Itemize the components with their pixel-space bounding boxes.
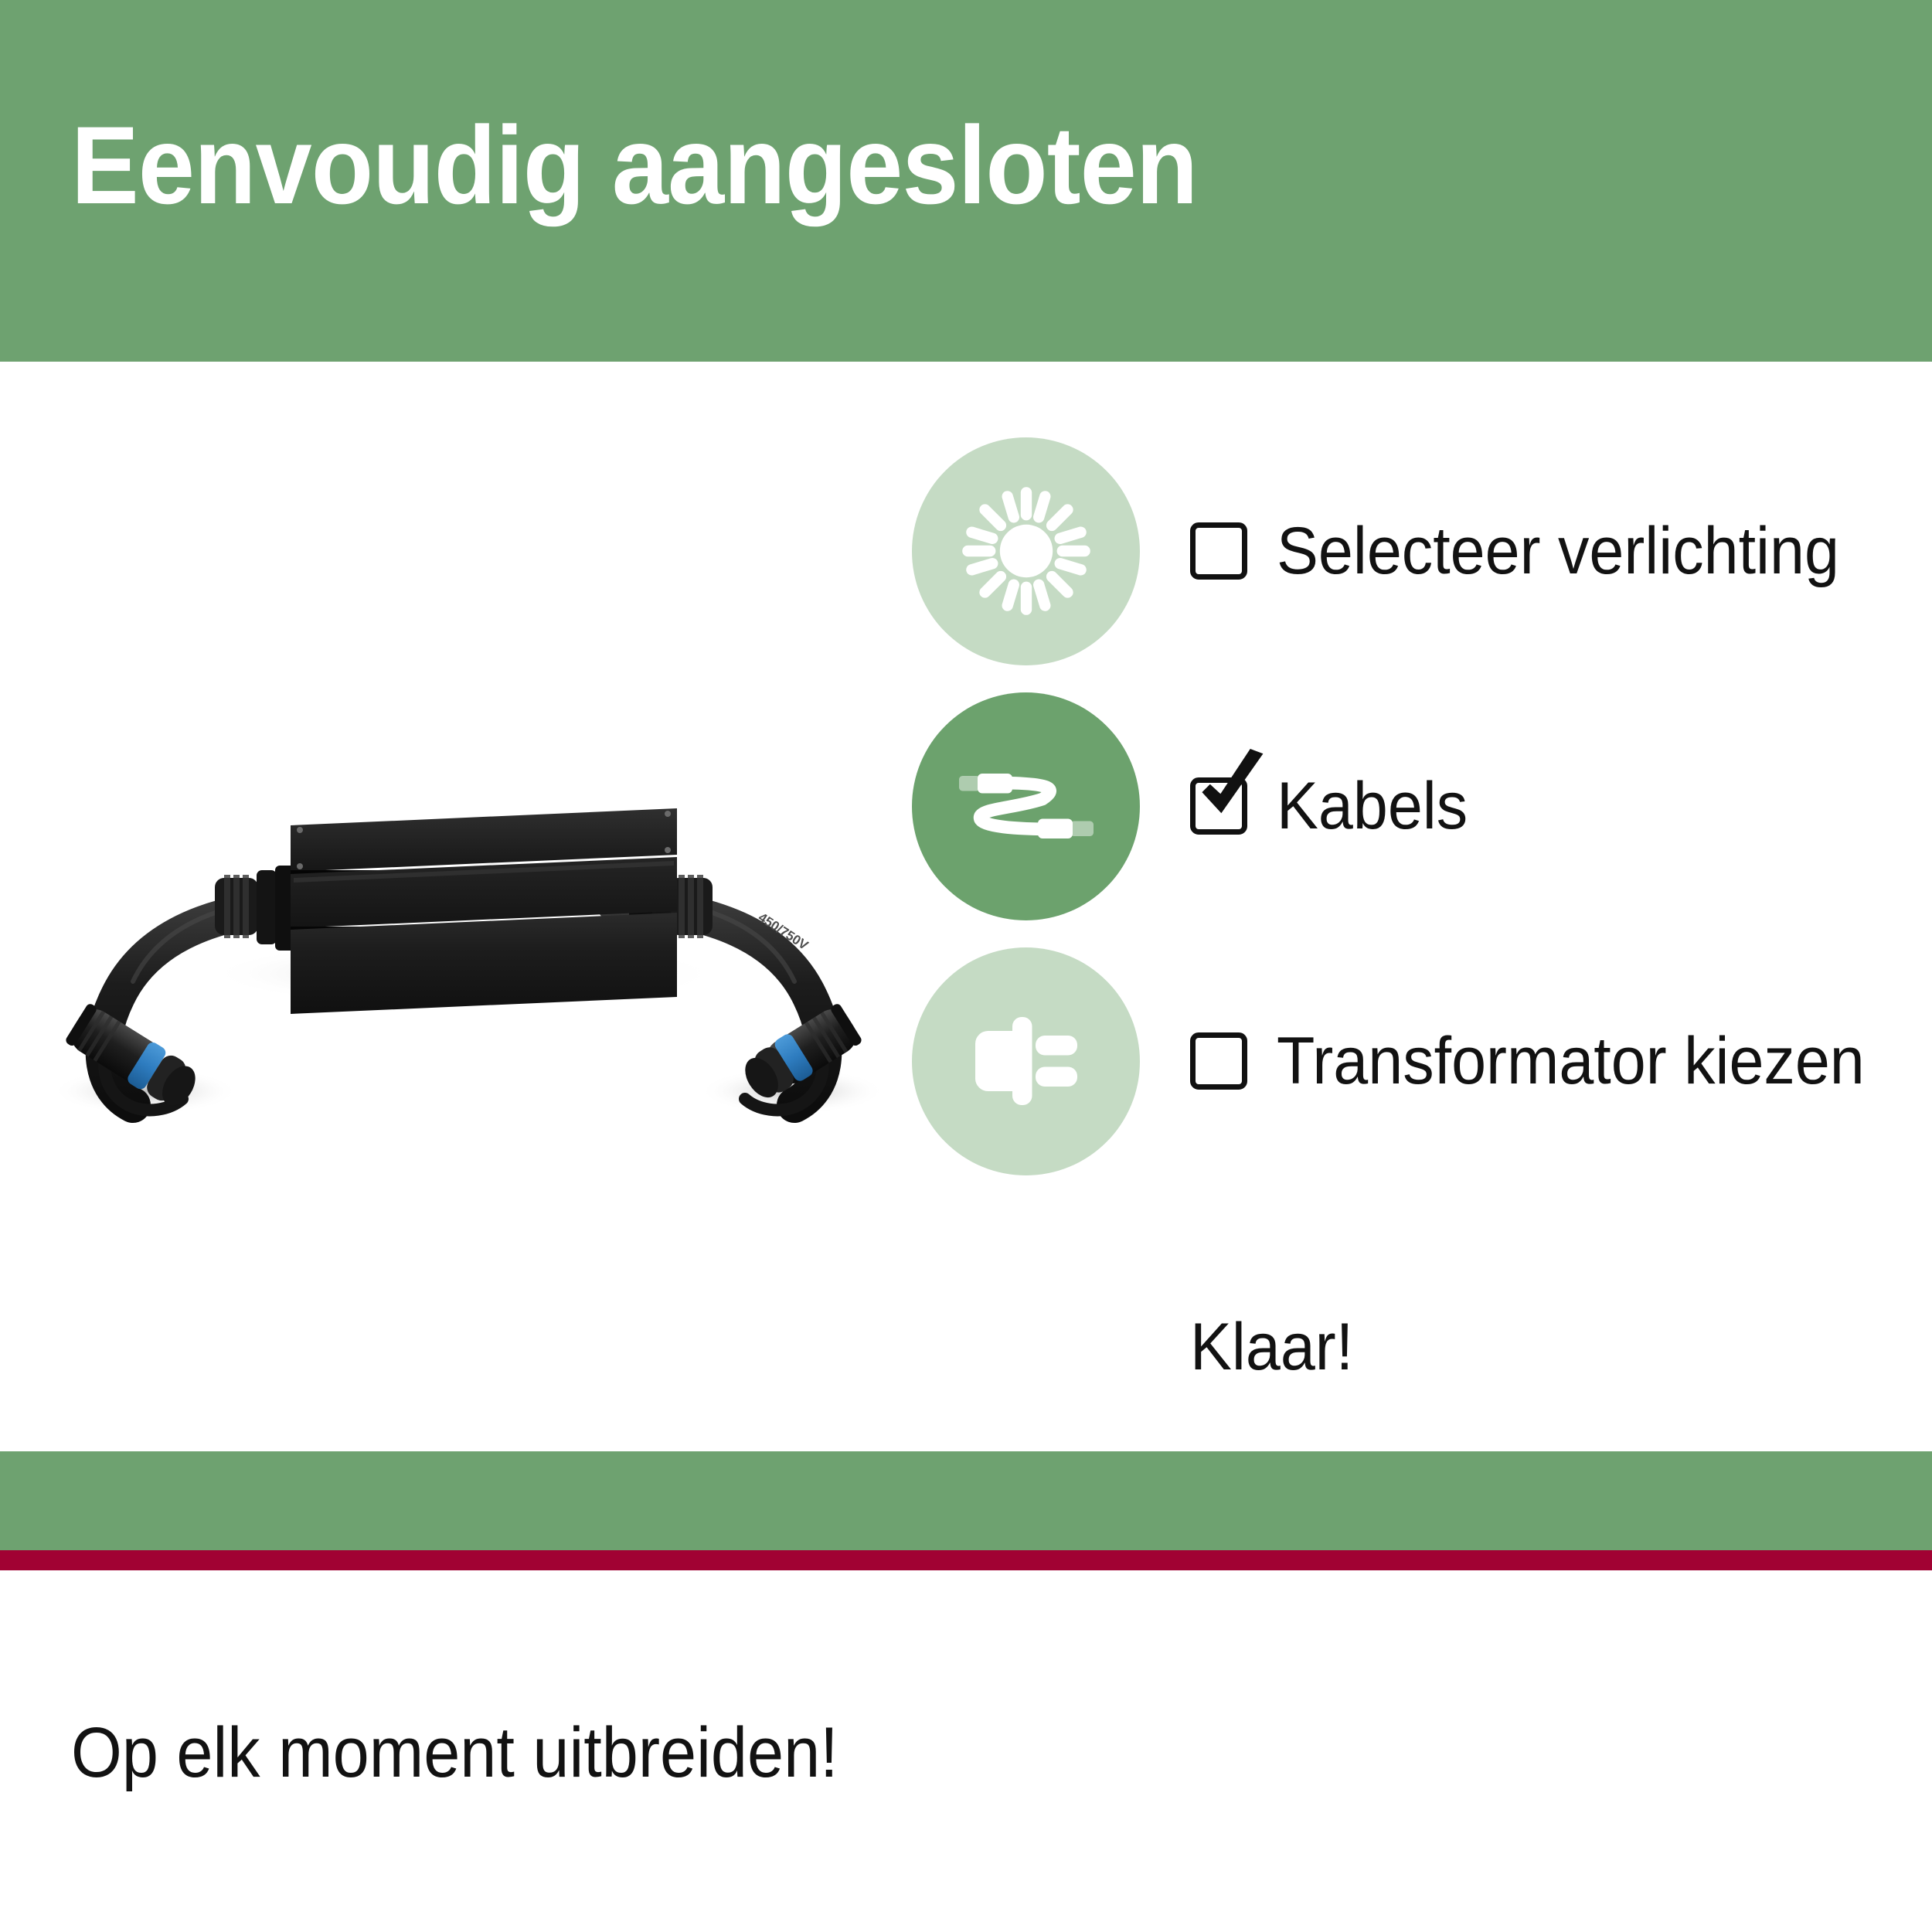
checklist: Selecteer verlichting — [912, 423, 1932, 1189]
checklist-row-cables[interactable]: Kabels — [912, 679, 1932, 934]
checklist-row-lighting-content: Selecteer verlichting — [1190, 518, 1875, 584]
checklist-row-transformer-content: Transformator kiezen — [1190, 1028, 1902, 1094]
sun-icon — [957, 481, 1096, 621]
poster-page: Eenvoudig aangesloten — [0, 0, 1932, 1932]
footer-red-band — [0, 1550, 1932, 1570]
checklist-row-cables-content: Kabels — [1190, 773, 1480, 839]
sun-icon-badge — [912, 437, 1140, 665]
page-title: Eenvoudig aangesloten — [71, 111, 1197, 221]
checkbox-lighting[interactable] — [1190, 522, 1247, 580]
cable-icon — [957, 736, 1096, 876]
footer-caption: Op elk moment uitbreiden! — [71, 1713, 838, 1794]
done-label: Klaar! — [1190, 1309, 1353, 1386]
checkbox-transformer[interactable] — [1190, 1032, 1247, 1090]
checkbox-cables[interactable] — [1190, 777, 1247, 835]
checkmark-icon — [1194, 749, 1274, 829]
cable-icon-badge — [912, 692, 1140, 920]
cable-gland-left — [215, 866, 298, 951]
plug-icon-badge — [912, 947, 1140, 1175]
checklist-label-lighting: Selecteer verlichting — [1277, 518, 1839, 584]
checklist-row-transformer[interactable]: Transformator kiezen — [912, 934, 1932, 1189]
checklist-label-cables: Kabels — [1277, 773, 1468, 839]
checklist-label-transformer: Transformator kiezen — [1277, 1028, 1865, 1094]
footer-green-band — [0, 1451, 1932, 1550]
plug-icon — [957, 992, 1096, 1131]
product-photo: 450/750V — [31, 742, 896, 1175]
checklist-row-lighting[interactable]: Selecteer verlichting — [912, 423, 1932, 679]
